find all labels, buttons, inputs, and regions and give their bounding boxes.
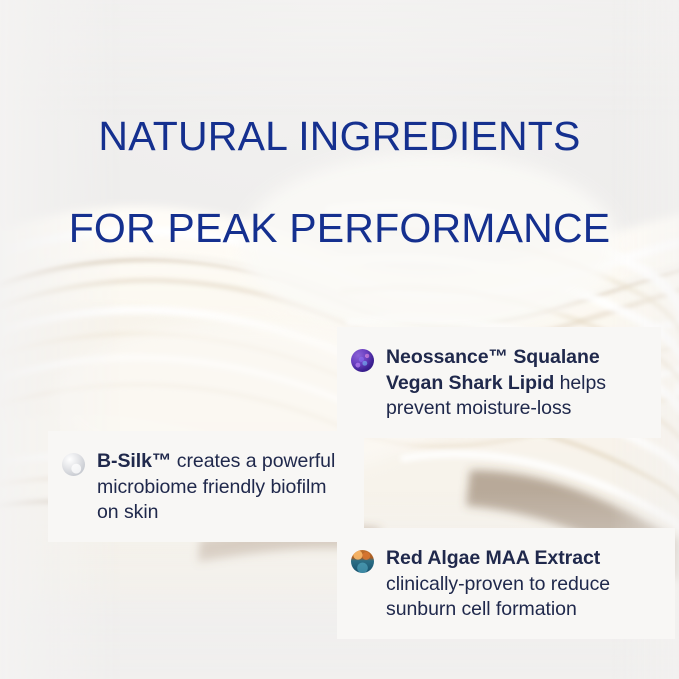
page-title-line-2: FOR PEAK PERFORMANCE xyxy=(0,205,679,251)
redalgae-bead-icon xyxy=(351,550,374,573)
ingredient-card-neossance-text: Neossance™ Squalane Vegan Shark Lipid he… xyxy=(386,345,647,422)
ingredient-name-bsilk: B-Silk™ xyxy=(97,450,171,472)
page-title: NATURAL INGREDIENTS FOR PEAK PERFORMANCE xyxy=(0,67,679,297)
bsilk-bead-icon xyxy=(62,453,85,476)
ingredient-infographic: NATURAL INGREDIENTS FOR PEAK PERFORMANCE… xyxy=(0,0,679,679)
ingredient-card-redalgae: Red Algae MAA Extract clinically-proven … xyxy=(337,528,675,639)
ingredient-card-bsilk: B-Silk™ creates a powerful microbiome fr… xyxy=(48,431,364,542)
page-title-line-1: NATURAL INGREDIENTS xyxy=(0,113,679,159)
ingredient-name-redalgae: Red Algae MAA Extract xyxy=(386,547,600,569)
ingredient-desc-redalgae: clinically-proven to reduce sunburn cell… xyxy=(386,573,610,621)
ingredient-card-bsilk-text: B-Silk™ creates a powerful microbiome fr… xyxy=(97,449,350,526)
ingredient-card-redalgae-text: Red Algae MAA Extract clinically-proven … xyxy=(386,546,661,623)
neossance-bead-icon xyxy=(351,349,374,372)
ingredient-card-neossance: Neossance™ Squalane Vegan Shark Lipid he… xyxy=(337,327,661,438)
